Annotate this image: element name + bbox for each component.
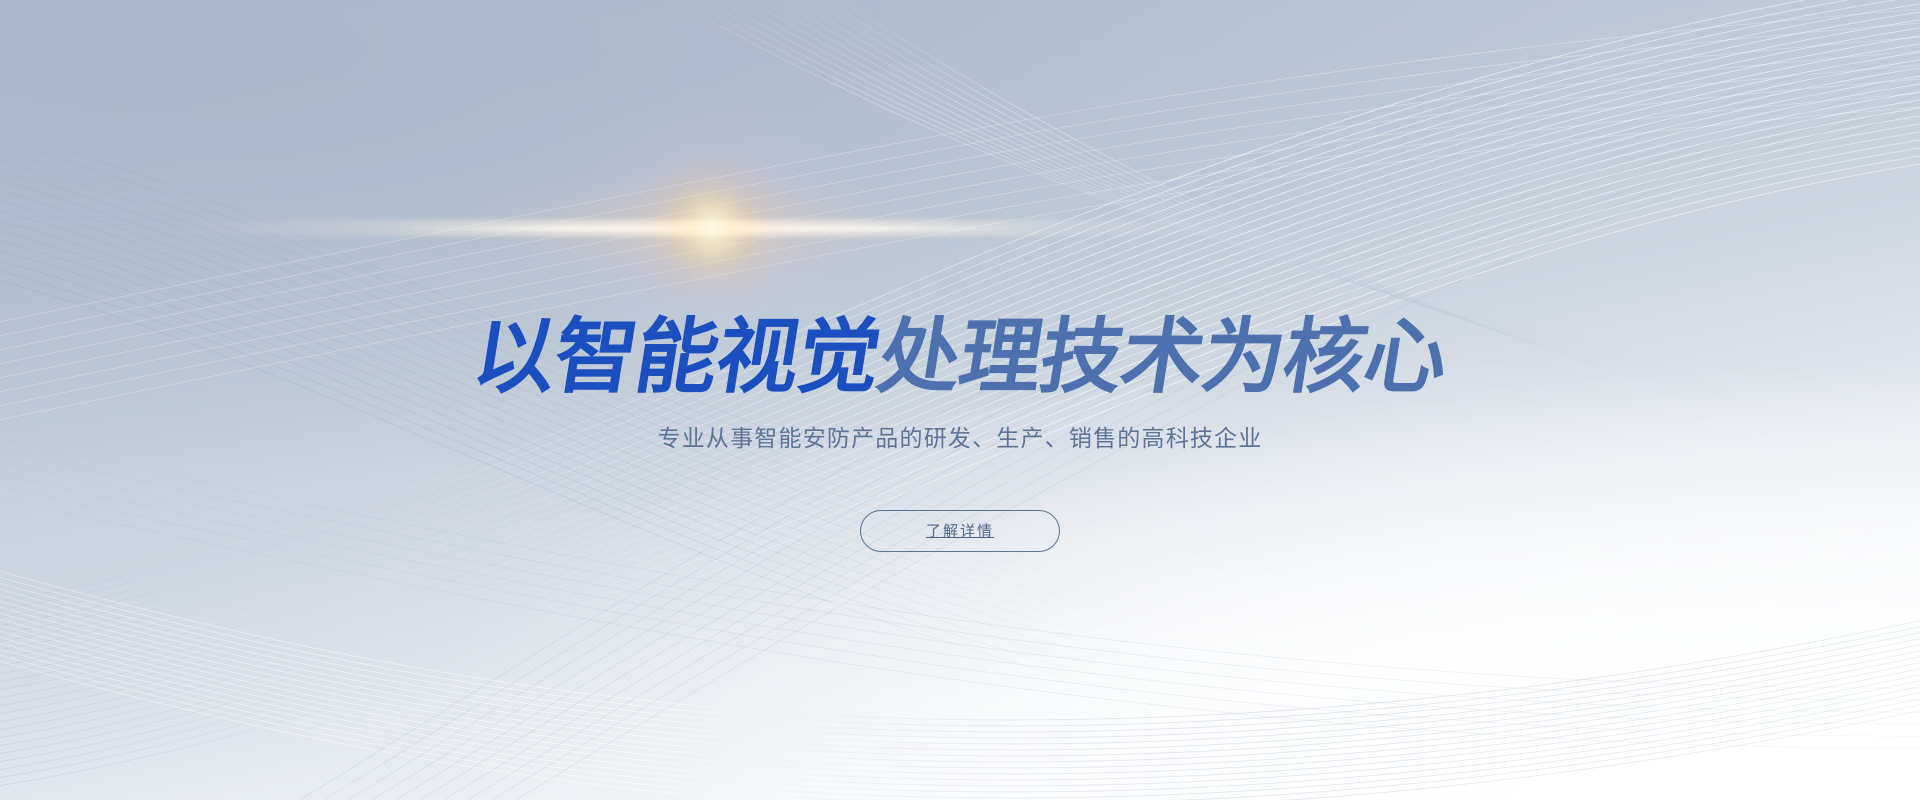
- hero-subtitle: 专业从事智能安防产品的研发、生产、销售的高科技企业: [0, 423, 1920, 455]
- headline-segment-primary: 以智能视觉: [467, 317, 885, 399]
- learn-more-button[interactable]: 了解详情: [860, 510, 1060, 552]
- hero-cta-container: 了解详情: [0, 510, 1920, 552]
- hero-banner: 以智能视觉处理技术为核心 专业从事智能安防产品的研发、生产、销售的高科技企业 了…: [0, 0, 1920, 800]
- hero-content: 以智能视觉处理技术为核心 专业从事智能安防产品的研发、生产、销售的高科技企业 了…: [0, 0, 1920, 800]
- hero-headline: 以智能视觉处理技术为核心: [0, 317, 1920, 399]
- headline-segment-secondary: 处理技术为核心: [873, 317, 1453, 399]
